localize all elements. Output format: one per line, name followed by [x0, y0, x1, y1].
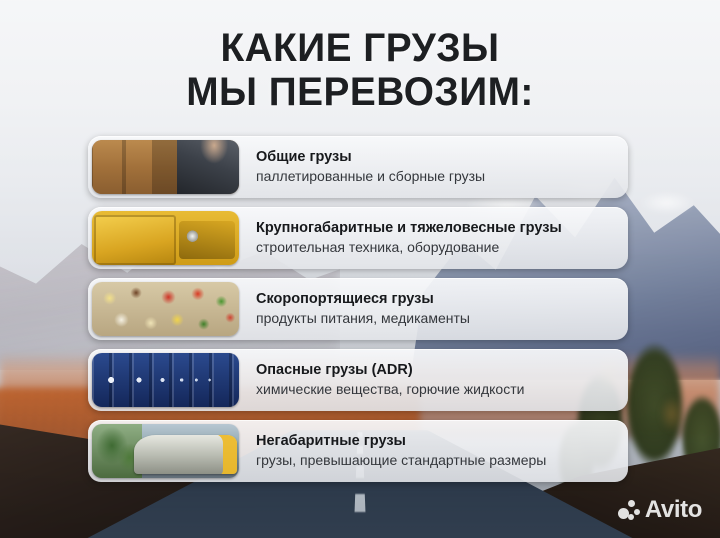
list-item-subtitle: строительная техника, оборудование	[256, 238, 562, 257]
list-item-title: Опасные грузы (ADR)	[256, 361, 524, 379]
avito-logo-circle-right	[634, 509, 640, 515]
avito-logo-circle-bottom	[628, 514, 634, 520]
avito-wordmark: Avito	[645, 498, 702, 522]
list-item-subtitle: паллетированные и сборные грузы	[256, 167, 485, 186]
list-item[interactable]: Скоропортящиеся грузы продукты питания, …	[88, 278, 628, 340]
poster-title-line-1: КАКИЕ ГРУЗЫ	[11, 26, 709, 70]
list-item[interactable]: Крупногабаритные и тяжеловесные грузы ст…	[88, 207, 628, 269]
list-item-subtitle: продукты питания, медикаменты	[256, 309, 470, 328]
cargo-type-list: Общие грузы паллетированные и сборные гр…	[88, 136, 628, 482]
avito-logo-circle-top	[628, 500, 635, 507]
cargo-thumbnail-perishable	[92, 282, 239, 336]
poster-title: КАКИЕ ГРУЗЫ МЫ ПЕРЕВОЗИМ:	[0, 26, 720, 114]
blue-chemical-drums-photo	[92, 353, 239, 407]
list-item-title: Общие грузы	[256, 148, 485, 166]
cargo-thumbnail-general	[92, 140, 239, 194]
yellow-heavy-machinery-photo	[92, 211, 239, 265]
list-item-text: Общие грузы паллетированные и сборные гр…	[239, 148, 485, 186]
cargo-thumbnail-oversized-heavy	[92, 211, 239, 265]
list-item-subtitle: химические вещества, горючие жидкости	[256, 380, 524, 399]
cargo-thumbnail-dangerous-adr	[92, 353, 239, 407]
list-item[interactable]: Опасные грузы (ADR) химические вещества,…	[88, 349, 628, 411]
oversize-tanker-convoy-photo	[92, 424, 239, 478]
list-item-text: Опасные грузы (ADR) химические вещества,…	[239, 361, 524, 399]
list-item-text: Скоропортящиеся грузы продукты питания, …	[239, 290, 470, 328]
list-item-title: Негабаритные грузы	[256, 432, 546, 450]
promo-poster: КАКИЕ ГРУЗЫ МЫ ПЕРЕВОЗИМ: Общие грузы па…	[0, 0, 720, 538]
assorted-food-photo	[92, 282, 239, 336]
list-item-title: Крупногабаритные и тяжеловесные грузы	[256, 219, 562, 237]
list-item-text: Крупногабаритные и тяжеловесные грузы ст…	[239, 219, 562, 257]
avito-watermark: Avito	[618, 498, 702, 522]
list-item-title: Скоропортящиеся грузы	[256, 290, 470, 308]
list-item[interactable]: Общие грузы паллетированные и сборные гр…	[88, 136, 628, 198]
list-item[interactable]: Негабаритные грузы грузы, превышающие ст…	[88, 420, 628, 482]
cargo-thumbnail-oversize	[92, 424, 239, 478]
avito-logo-icon	[618, 500, 640, 521]
poster-title-line-2: МЫ ПЕРЕВОЗИМ:	[11, 70, 709, 114]
list-item-subtitle: грузы, превышающие стандартные размеры	[256, 451, 546, 470]
list-item-text: Негабаритные грузы грузы, превышающие ст…	[239, 432, 546, 470]
cardboard-boxes-worker-photo	[92, 140, 239, 194]
